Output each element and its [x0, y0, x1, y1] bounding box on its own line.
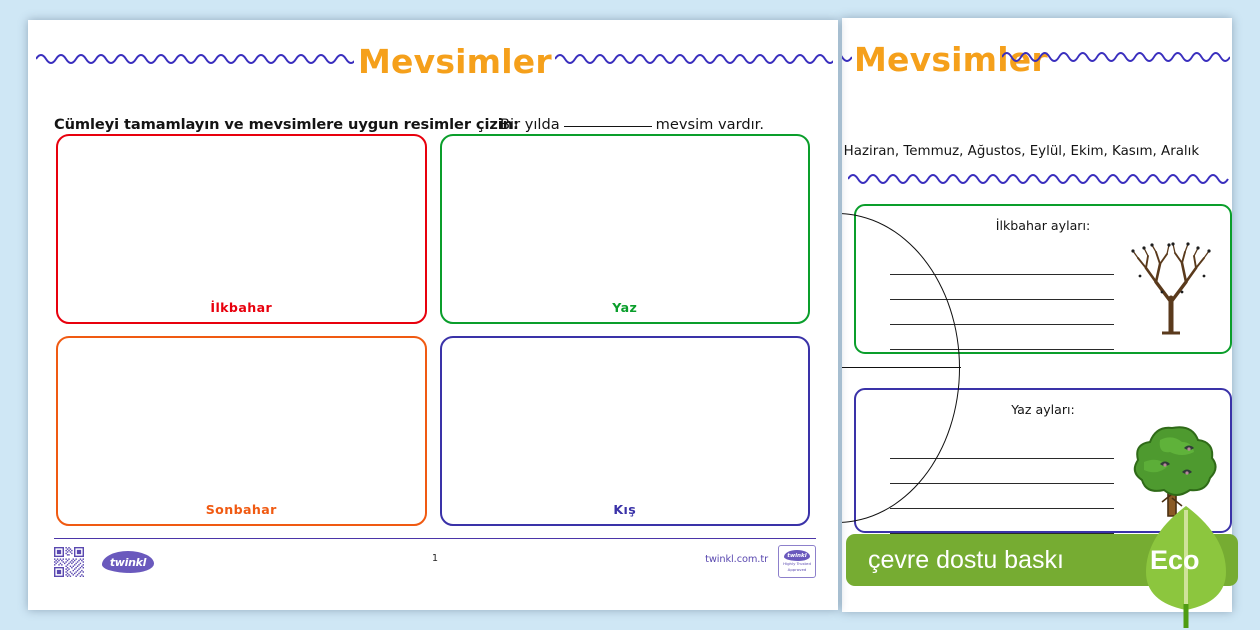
wave-divider-right-icon [1002, 48, 1230, 66]
badge-twinkl-logo: twinkl [784, 550, 810, 561]
answer-blank[interactable] [564, 126, 652, 127]
page1-title: Mevsimler [358, 42, 552, 81]
worksheet-page-1: Mevsimler Cümleyi tamamlayın ve mevsimle… [28, 20, 838, 610]
eco-banner-text: çevre dostu baskı [868, 546, 1064, 575]
wave-divider-left-icon [842, 48, 852, 66]
wave-divider-left-icon [36, 50, 354, 68]
trusted-approved-badge: twinkl Highly Trusted Approved [778, 545, 816, 578]
write-line[interactable] [890, 509, 1114, 534]
season-wheel-axis-icon [842, 367, 961, 368]
months-list: Ocak, Şubat, Mart, Nisan, Mayıs, Haziran… [842, 144, 1199, 159]
season-label: Sonbahar [58, 502, 425, 517]
fill-in-sentence: Bir yıldamevsim vardır. [500, 116, 764, 133]
season-label: Yaz [442, 300, 809, 315]
sentence-prefix: Bir yılda [500, 116, 560, 133]
season-box-kis[interactable]: Kış [440, 336, 811, 526]
season-box-yaz[interactable]: Yaz [440, 134, 811, 324]
spring-months-title: İlkbahar ayları: [856, 218, 1230, 233]
season-label: Kış [442, 502, 809, 517]
instruction-text: Cümleyi tamamlayın ve mevsimlere uygun r… [54, 116, 519, 133]
page1-header: Mevsimler [28, 20, 838, 82]
bare-tree-icon [1122, 232, 1222, 340]
website-url[interactable]: twinkl.com.tr [705, 554, 768, 565]
seasons-grid: İlkbahar Yaz Sonbahar Kış [56, 134, 810, 526]
wave-separator-icon [848, 170, 1230, 188]
season-box-sonbahar[interactable]: Sonbahar [56, 336, 427, 526]
page2-header: Mevsimler [842, 18, 1232, 80]
page-number: 1 [54, 553, 816, 564]
write-line[interactable] [890, 484, 1114, 509]
sentence-suffix: mevsim vardır. [656, 116, 764, 133]
eco-badge-label: Eco [1150, 545, 1200, 576]
wave-divider-right-icon [555, 50, 833, 68]
badge-line-2: Approved [788, 568, 807, 573]
season-box-ilkbahar[interactable]: İlkbahar [56, 134, 427, 324]
season-label: İlkbahar [58, 300, 425, 315]
page1-footer: twinkl 1 twinkl.com.tr twinkl Highly Tru… [54, 538, 816, 584]
